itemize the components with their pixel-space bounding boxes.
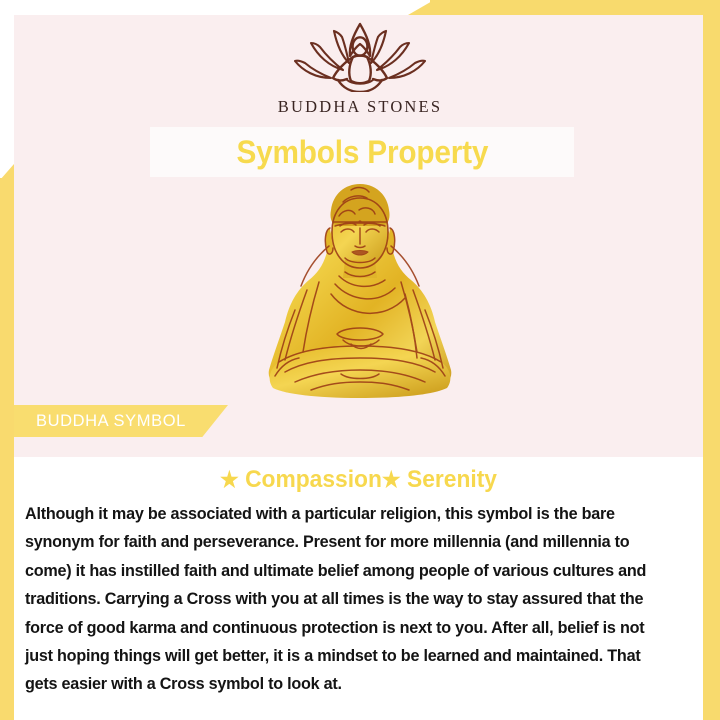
ribbon-label: BUDDHA SYMBOL [14,412,186,431]
brand-name: BUDDHA STONES [278,97,442,117]
subheading: ★ Compassion★ Serenity [31,466,686,494]
body-paragraph: Although it may be associated with a par… [25,500,676,699]
seated-golden-buddha-statue [255,176,465,414]
subheading-word-one: Compassion [245,466,382,493]
top-accent-band-diagonal [408,0,434,15]
buddha-symbol-ribbon: BUDDHA SYMBOL [14,405,228,437]
top-accent-band [430,0,720,15]
poster-canvas: BUDDHA STONES Symbols Property [0,0,720,720]
lotus-meditation-figure-icon [285,18,435,92]
left-accent-band [0,178,14,720]
subheading-word-two: Serenity [407,466,497,493]
star-icon-one: ★ [220,467,239,492]
star-icon-two: ★ [382,467,401,492]
brand-logo: BUDDHA STONES [0,18,720,117]
title-plate: Symbols Property [150,127,574,177]
page-title: Symbols Property [236,134,488,171]
left-accent-band-diagonal [0,164,14,180]
